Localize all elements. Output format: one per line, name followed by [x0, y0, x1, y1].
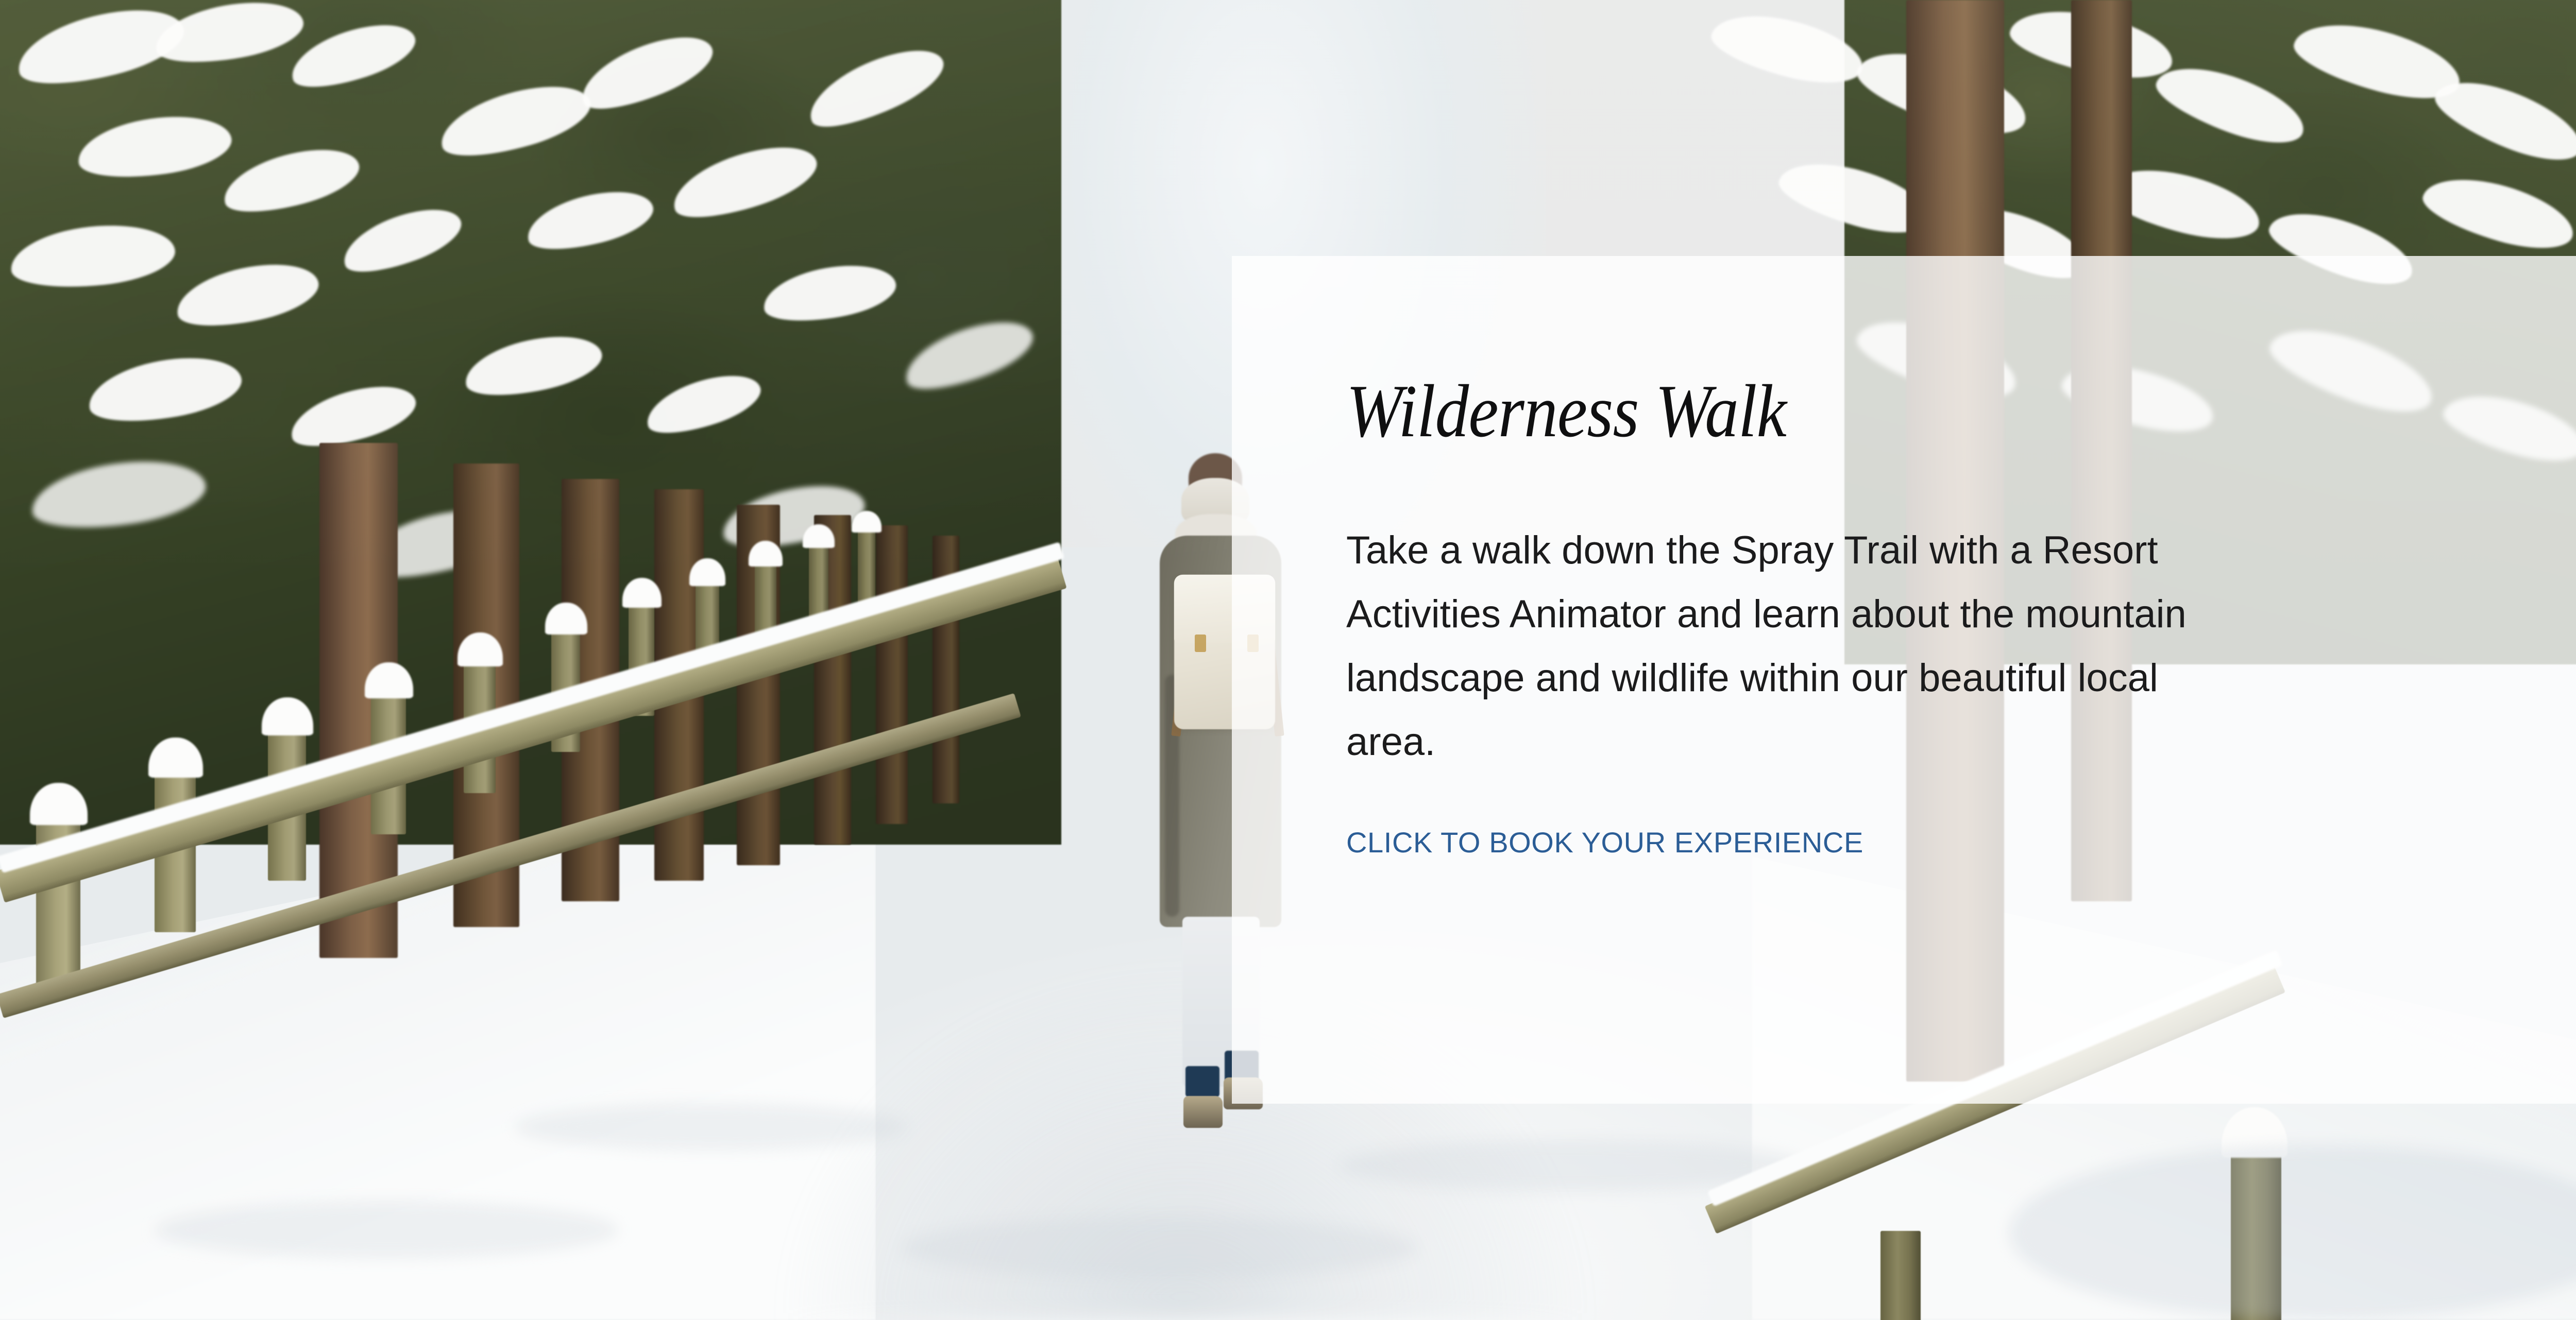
- card-description: Take a walk down the Spray Trail with a …: [1346, 519, 2253, 774]
- hero-banner: Wilderness Walk Take a walk down the Spr…: [0, 0, 2576, 1320]
- snow-ripple: [155, 1202, 618, 1258]
- backpack-buckle: [1195, 635, 1206, 652]
- promo-card: Wilderness Walk Take a walk down the Spr…: [1232, 256, 2576, 1104]
- snow-ripple: [902, 1217, 1417, 1279]
- snow-ripple: [515, 1104, 907, 1150]
- hiker-boot: [1183, 1096, 1223, 1128]
- page-title: Wilderness Walk: [1346, 373, 2453, 449]
- hiker-cuff: [1185, 1066, 1219, 1097]
- tree-trunk: [876, 525, 908, 824]
- fence-post: [36, 803, 80, 989]
- fence-post: [1880, 1231, 1921, 1320]
- book-experience-link[interactable]: CLICK TO BOOK YOUR EXPERIENCE: [1346, 826, 1863, 859]
